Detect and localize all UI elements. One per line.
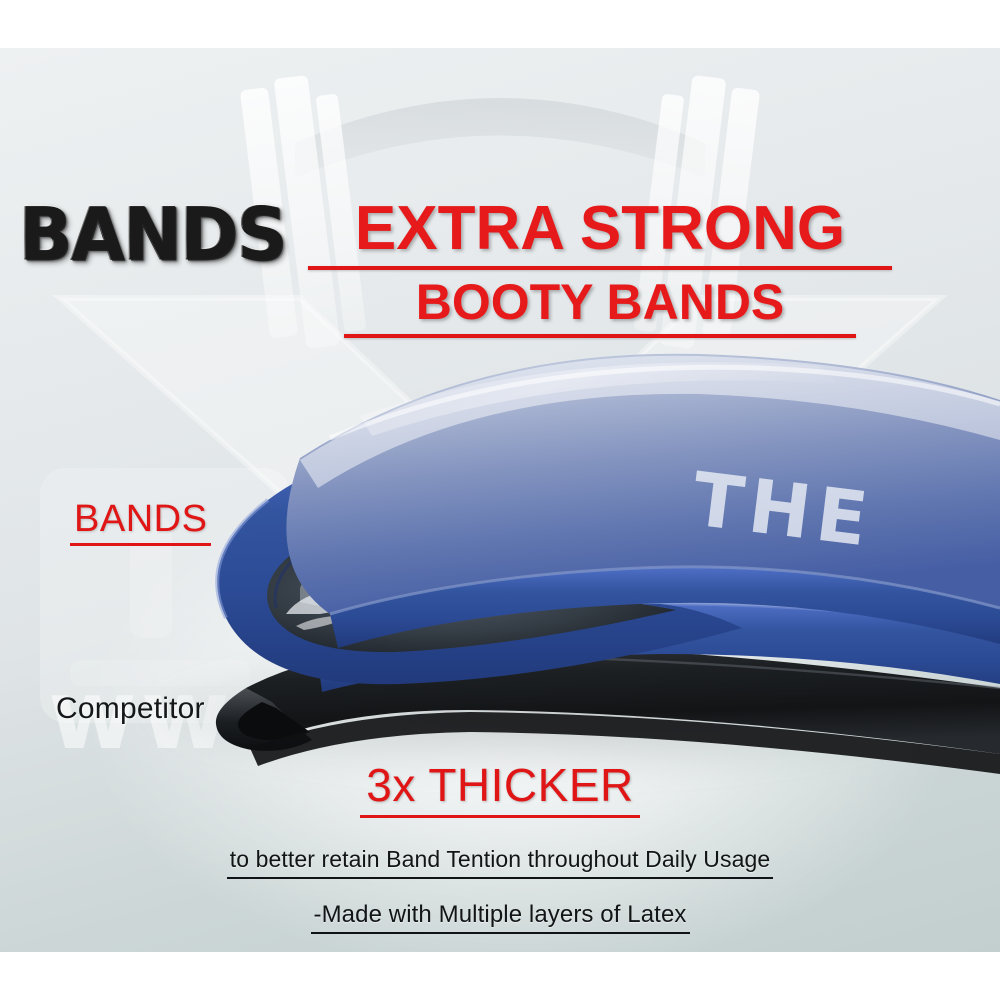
benefit-list: to better retain Band Tention throughout… [0,846,1000,952]
callout-product-label: BANDS [70,500,211,546]
product-marketing-image: www [0,0,1000,1000]
band-specular-highlight [360,362,840,436]
callout-competitor-label: Competitor [56,693,205,725]
benefit-text: -Made with Multiple layers of Latex [311,901,690,935]
headline-primary: EXTRA STRONG [300,200,900,259]
benefit-item: -Made with Multiple layers of Latex [0,901,1000,935]
svg-text:THE: THE [688,457,878,564]
thickness-claim: 3x THICKER [0,760,1000,818]
image-canvas: www [0,48,1000,952]
benefit-text: to better retain Band Tention throughout… [227,846,774,879]
benefit-item: to better retain Band Tention throughout… [0,846,1000,879]
band-printed-text: THE [688,457,878,564]
blue-band-loop [217,439,742,684]
headline-block: EXTRA STRONG BOOTY BANDS [300,200,900,338]
headline-secondary: BOOTY BANDS [300,276,900,328]
watermark-barbell-bar [295,98,705,178]
headline-secondary-underline [344,334,856,338]
watermark-chevron [60,298,940,688]
blue-band-top-sheet: THE [286,354,1000,648]
thickness-claim-text: 3x THICKER [360,760,639,818]
brand-logo: BANDS [18,198,285,271]
headline-primary-underline [308,266,892,270]
